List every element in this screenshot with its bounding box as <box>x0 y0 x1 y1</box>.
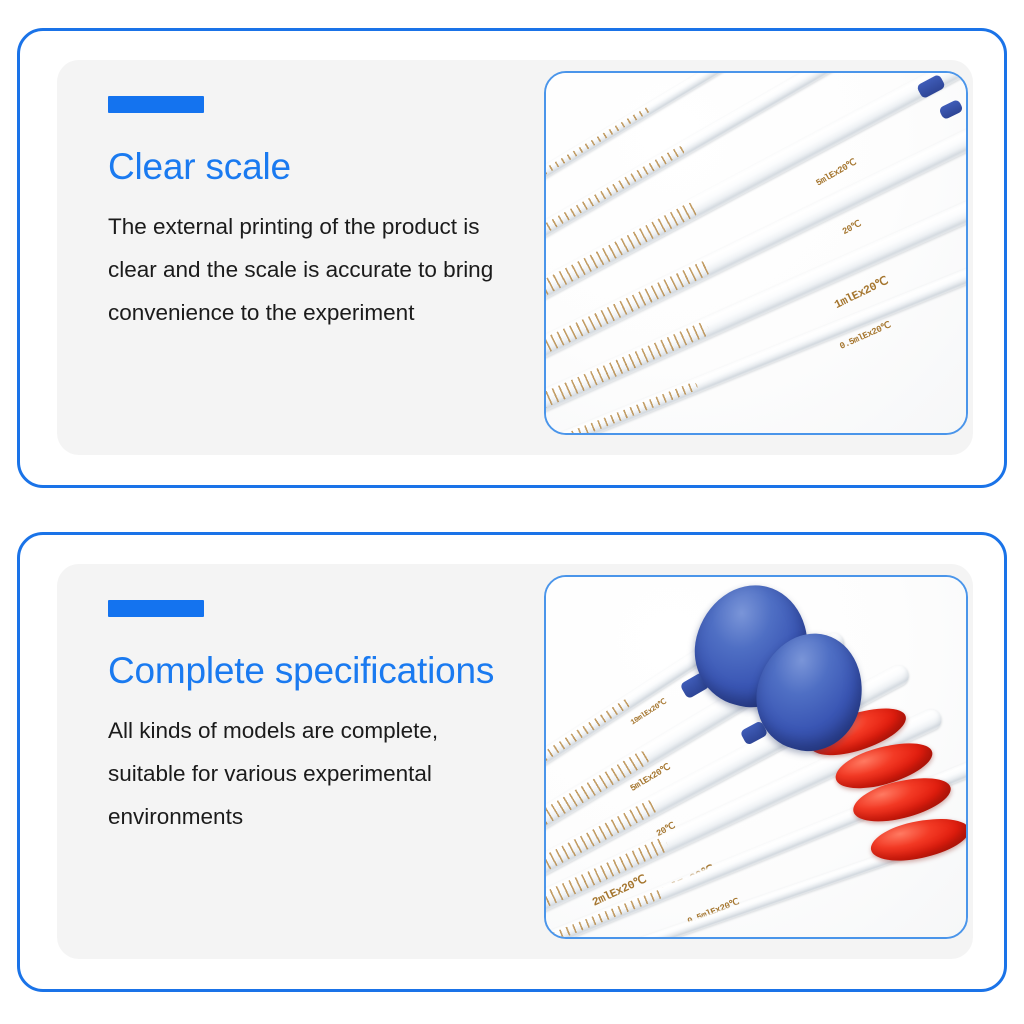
card-photo-column: 10mlEx20℃ 5mlEx20℃ 20℃ 2m <box>537 564 973 959</box>
feature-title: Complete specifications <box>108 652 515 691</box>
card-text-column: Complete specifications All kinds of mod… <box>57 564 537 959</box>
pipette-scale-label: 20℃ <box>841 219 863 237</box>
feature-cards-page: Clear scale The external printing of the… <box>0 0 1024 1024</box>
photo-background: 10mlEx20℃ 5mlEx20℃ 20℃ <box>546 73 966 433</box>
feature-title: Clear scale <box>108 148 515 187</box>
feature-description: All kinds of models are complete, suitab… <box>108 709 515 838</box>
accent-bar <box>108 96 204 113</box>
card-photo-column: 10mlEx20℃ 5mlEx20℃ 20℃ <box>537 60 973 455</box>
photo-background: 10mlEx20℃ 5mlEx20℃ 20℃ 2m <box>546 577 966 937</box>
product-photo-pipette-scale: 10mlEx20℃ 5mlEx20℃ 20℃ <box>544 71 968 435</box>
feature-card-clear-scale: Clear scale The external printing of the… <box>17 28 1007 488</box>
pipette-tip <box>938 99 963 120</box>
graduation-ticks <box>544 937 652 939</box>
card-panel: Clear scale The external printing of the… <box>57 60 973 455</box>
card-text-column: Clear scale The external printing of the… <box>57 60 537 455</box>
feature-description: The external printing of the product is … <box>108 205 515 334</box>
feature-card-complete-specifications: Complete specifications All kinds of mod… <box>17 532 1007 992</box>
accent-bar <box>108 600 204 617</box>
card-panel: Complete specifications All kinds of mod… <box>57 564 973 959</box>
product-photo-pipettes-with-bulbs: 10mlEx20℃ 5mlEx20℃ 20℃ 2m <box>544 575 968 939</box>
